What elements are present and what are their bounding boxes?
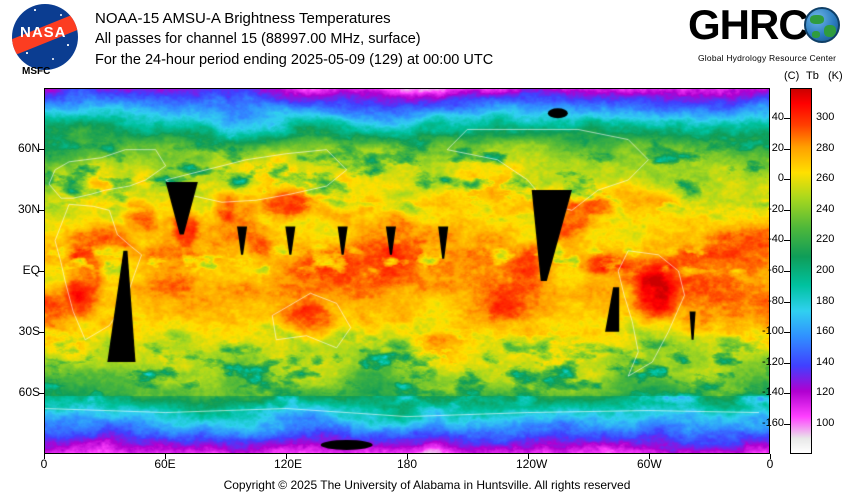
colorbar-tick-mark [784, 149, 790, 150]
colorbar-tick-mark [784, 302, 790, 303]
colorbar-tick-kelvin: 280 [816, 142, 854, 154]
y-axis-tick-label: EQ [2, 263, 40, 277]
colorbar-tick-kelvin: 200 [816, 264, 854, 276]
nasa-center-label: MSFC [22, 66, 50, 77]
nasa-roundel: NASA [12, 4, 78, 70]
title-block: NOAA-15 AMSU-A Brightness Temperatures A… [95, 8, 493, 71]
title-subline-period: For the 24-hour period ending 2025-05-09… [95, 50, 493, 71]
colorbar-gradient [790, 88, 812, 454]
nasa-logo-text: NASA [20, 24, 67, 41]
colorbar-header-celsius: (C) [784, 70, 799, 82]
x-axis-tick-mark [770, 454, 771, 459]
colorbar-tick-mark [784, 424, 790, 425]
colorbar-tick-celsius: -40 [744, 233, 784, 245]
global-temperature-map[interactable] [44, 88, 770, 454]
colorbar-tick-celsius: 40 [744, 111, 784, 123]
colorbar-tick-mark [784, 332, 790, 333]
colorbar-tick-kelvin: 240 [816, 203, 854, 215]
colorbar-header-kelvin: (K) [828, 70, 843, 82]
x-axis-tick-mark [407, 454, 408, 459]
colorbar-tick-celsius: -120 [744, 356, 784, 368]
page-title: NOAA-15 AMSU-A Brightness Temperatures [95, 8, 493, 29]
colorbar-tick-kelvin: 220 [816, 233, 854, 245]
colorbar-tick-celsius: -160 [744, 417, 784, 429]
x-axis-tick-label: 180 [395, 457, 419, 471]
x-axis-tick-label: 0 [32, 457, 56, 471]
x-axis-tick-mark [165, 454, 166, 459]
y-axis-tick-label: 60N [2, 141, 40, 155]
colorbar [790, 88, 812, 454]
y-axis-tick-label: 30S [2, 324, 40, 338]
x-axis-tick-mark [44, 454, 45, 459]
colorbar-tick-kelvin: 100 [816, 417, 854, 429]
x-axis-tick-label: 0 [758, 457, 782, 471]
colorbar-tick-mark [784, 118, 790, 119]
ghrc-logo-text: GHRC [688, 1, 808, 49]
colorbar-tick-celsius: -140 [744, 386, 784, 398]
x-axis-tick-label: 120E [274, 457, 298, 471]
x-axis-tick-label: 120W [516, 457, 540, 471]
colorbar-tick-mark [784, 363, 790, 364]
colorbar-tick-kelvin: 180 [816, 295, 854, 307]
ghrc-logo: GHRC Global Hydrology Resource Center [688, 5, 840, 73]
map-raster [45, 89, 769, 453]
colorbar-tick-celsius: -80 [744, 295, 784, 307]
colorbar-tick-kelvin: 140 [816, 356, 854, 368]
x-axis-tick-mark [286, 454, 287, 459]
ghrc-subtitle: Global Hydrology Resource Center [698, 53, 836, 63]
colorbar-tick-celsius: 0 [744, 172, 784, 184]
copyright-notice: Copyright © 2025 The University of Alaba… [0, 478, 854, 492]
title-subline-channel: All passes for channel 15 (88997.00 MHz,… [95, 29, 493, 50]
colorbar-tick-kelvin: 260 [816, 172, 854, 184]
colorbar-tick-celsius: 20 [744, 142, 784, 154]
colorbar-tick-mark [784, 179, 790, 180]
y-axis-tick-mark [39, 393, 44, 394]
x-axis-tick-mark [528, 454, 529, 459]
colorbar-tick-mark [784, 210, 790, 211]
y-axis-tick-mark [39, 210, 44, 211]
globe-icon [804, 7, 840, 43]
colorbar-tick-kelvin: 120 [816, 386, 854, 398]
colorbar-tick-celsius: -20 [744, 203, 784, 215]
colorbar-header-tb: Tb [806, 70, 819, 82]
colorbar-tick-celsius: -100 [744, 325, 784, 337]
y-axis-tick-label: 60S [2, 385, 40, 399]
y-axis-tick-mark [39, 271, 44, 272]
colorbar-tick-mark [784, 240, 790, 241]
y-axis-tick-label: 30N [2, 202, 40, 216]
x-axis-tick-label: 60W [637, 457, 661, 471]
colorbar-tick-kelvin: 300 [816, 111, 854, 123]
y-axis-tick-mark [39, 149, 44, 150]
colorbar-tick-mark [784, 393, 790, 394]
nasa-logo: NASA MSFC [8, 4, 86, 78]
colorbar-tick-kelvin: 160 [816, 325, 854, 337]
x-axis-tick-mark [649, 454, 650, 459]
colorbar-tick-mark [784, 271, 790, 272]
colorbar-tick-celsius: -60 [744, 264, 784, 276]
x-axis-tick-label: 60E [153, 457, 177, 471]
y-axis-tick-mark [39, 332, 44, 333]
